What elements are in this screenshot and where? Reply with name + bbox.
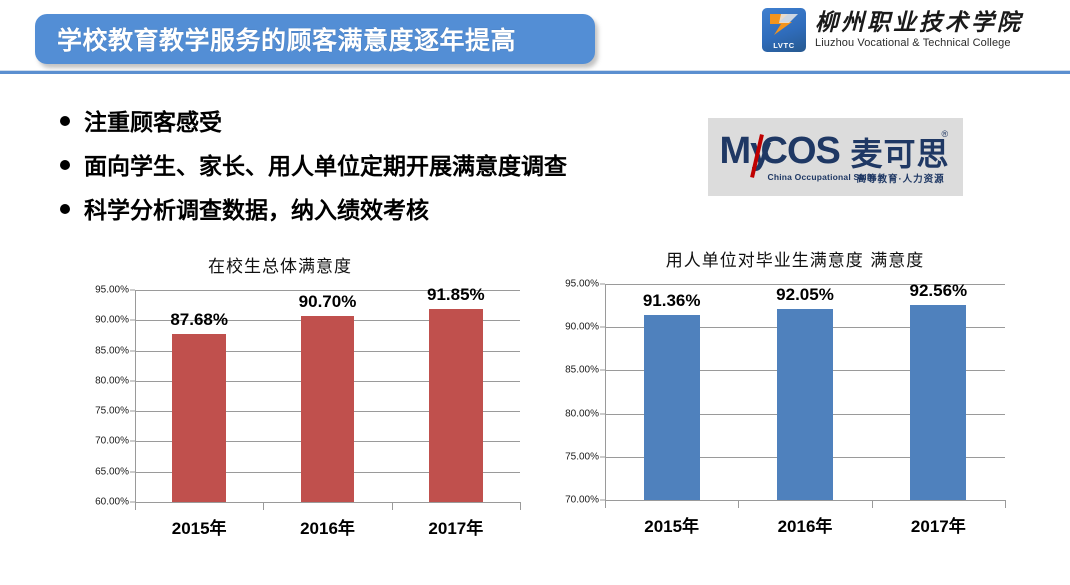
y-axis-tick-label: 60.00%	[95, 497, 135, 508]
lvtc-badge-label: LVTC	[773, 41, 794, 50]
x-axis-category-label: 2017年	[911, 512, 966, 537]
bullet-text: 面向学生、家长、用人单位定期开展满意度调查	[84, 152, 567, 180]
y-axis-tick-label: 85.00%	[565, 365, 605, 376]
bar-value-label: 92.56%	[909, 281, 967, 301]
bullet-dot-icon	[60, 116, 70, 126]
school-name-en: Liuzhou Vocational & Technical College	[815, 36, 1023, 50]
x-axis-end-tick	[605, 500, 606, 508]
bar-value-label: 92.05%	[776, 285, 834, 305]
x-axis-category-label: 2016年	[778, 512, 833, 537]
chart-students-satisfaction: 在校生总体满意度 60.00%65.00%70.00%75.00%80.00%8…	[30, 252, 530, 542]
plot-inner: 70.00%75.00%80.00%85.00%90.00%95.00%91.3…	[605, 284, 1005, 500]
bar	[429, 309, 483, 502]
x-axis-end-tick	[1005, 500, 1006, 508]
bullet-list: 注重顾客感受 面向学生、家长、用人单位定期开展满意度调查 科学分析调查数据，纳入…	[60, 108, 680, 240]
header-divider	[0, 70, 1070, 74]
list-item: 科学分析调查数据，纳入绩效考核	[60, 196, 680, 224]
y-axis-tick-label: 80.00%	[95, 375, 135, 386]
y-axis-tick-label: 70.00%	[565, 495, 605, 506]
mycos-word-cos: COS	[761, 130, 840, 173]
lvtc-badge-icon: LVTC	[762, 8, 806, 52]
x-axis-end-tick	[135, 502, 136, 510]
y-axis-line	[605, 284, 606, 500]
bar-value-label: 91.36%	[643, 291, 701, 311]
bar	[777, 309, 833, 500]
y-axis-tick-label: 85.00%	[95, 345, 135, 356]
page-title: 学校教育教学服务的顾客满意度逐年提高	[35, 21, 516, 57]
y-axis-tick-label: 65.00%	[95, 466, 135, 477]
y-axis-tick-label: 90.00%	[565, 322, 605, 333]
x-axis-separator	[263, 502, 264, 510]
x-axis-separator	[392, 502, 393, 510]
x-axis-end-tick	[520, 502, 521, 510]
plot-area: 60.00%65.00%70.00%75.00%80.00%85.00%90.0…	[135, 290, 520, 502]
y-axis-tick-label: 75.00%	[565, 451, 605, 462]
mycos-logo-inner: My COS 麦可思 ® China Occupational Skills 高…	[720, 128, 952, 186]
slide-title-box: 学校教育教学服务的顾客满意度逐年提高	[35, 14, 595, 64]
plot-area: 70.00%75.00%80.00%85.00%90.00%95.00%91.3…	[605, 284, 1005, 500]
x-axis-category-label: 2015年	[172, 514, 227, 539]
bar-value-label: 91.85%	[427, 285, 485, 305]
bar	[910, 305, 966, 500]
school-logo: LVTC 柳州职业技术学院 Liuzhou Vocational & Techn…	[762, 8, 1023, 52]
x-axis-category-label: 2016年	[300, 514, 355, 539]
bar-value-label: 87.68%	[170, 310, 228, 330]
slide-canvas: 学校教育教学服务的顾客满意度逐年提高 LVTC 柳州职业技术学院 Liuzhou…	[0, 0, 1070, 585]
x-axis-separator	[738, 500, 739, 508]
bar-value-label: 90.70%	[299, 292, 357, 312]
bar	[172, 334, 226, 502]
y-axis-line	[135, 290, 136, 502]
chart-employer-satisfaction: 用人单位对毕业生满意度 满意度 70.00%75.00%80.00%85.00%…	[535, 246, 1055, 541]
bullet-dot-icon	[60, 160, 70, 170]
bullet-text: 注重顾客感受	[84, 108, 222, 136]
bar	[301, 316, 355, 502]
y-axis-tick-label: 95.00%	[95, 285, 135, 296]
y-axis-tick-label: 75.00%	[95, 406, 135, 417]
x-axis-category-label: 2015年	[644, 512, 699, 537]
school-logo-words: 柳州职业技术学院 Liuzhou Vocational & Technical …	[815, 10, 1023, 50]
y-axis-tick-label: 95.00%	[565, 279, 605, 290]
chart-title: 用人单位对毕业生满意度 满意度	[535, 246, 1055, 271]
y-axis-tick-label: 70.00%	[95, 436, 135, 447]
mycos-subtitle-cn: 高等教育·人力资源	[857, 171, 945, 185]
plot-inner: 60.00%65.00%70.00%75.00%80.00%85.00%90.0…	[135, 290, 520, 502]
y-axis-tick-label: 80.00%	[565, 408, 605, 419]
x-axis-separator	[872, 500, 873, 508]
list-item: 注重顾客感受	[60, 108, 680, 136]
registered-mark-icon: ®	[942, 129, 949, 139]
chart-title: 在校生总体满意度	[30, 252, 530, 277]
lightning-mark-icon	[768, 12, 800, 37]
x-axis-category-label: 2017年	[428, 514, 483, 539]
bullet-dot-icon	[60, 204, 70, 214]
school-name-cn: 柳州职业技术学院	[815, 10, 1023, 36]
mycos-logo: My COS 麦可思 ® China Occupational Skills 高…	[708, 118, 963, 196]
bar	[644, 315, 700, 500]
bullet-text: 科学分析调查数据，纳入绩效考核	[84, 196, 429, 224]
gridline	[605, 500, 1005, 501]
gridline	[135, 502, 520, 503]
list-item: 面向学生、家长、用人单位定期开展满意度调查	[60, 152, 680, 180]
y-axis-tick-label: 90.00%	[95, 315, 135, 326]
mycos-word-cn: 麦可思	[851, 129, 950, 175]
